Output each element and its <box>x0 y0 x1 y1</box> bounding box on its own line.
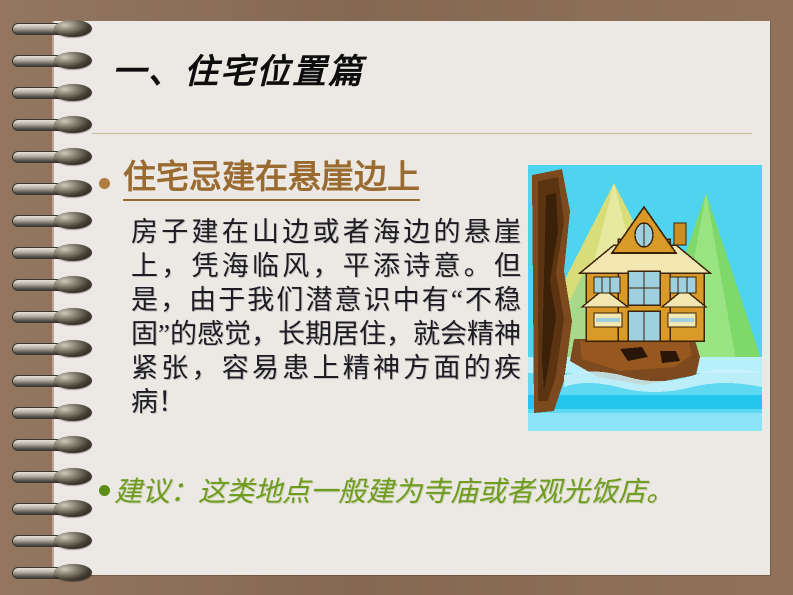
page-left-edge <box>52 21 54 575</box>
slide-canvas: 一、住宅位置篇 住宅忌建在悬崖边上 房子建在山边或者海边的悬崖上，凭海临风，平添… <box>0 0 793 595</box>
title-divider <box>92 133 752 134</box>
bullet-suggestion <box>99 485 110 496</box>
suggestion-text: 建议：这类地点一般建为寺庙或者观光饭店。 <box>114 470 674 510</box>
house-on-cliff-clipart <box>524 161 766 435</box>
bullet-heading <box>99 178 110 189</box>
page-title: 一、住宅位置篇 <box>112 44 364 93</box>
body-paragraph: 房子建在山边或者海边的悬崖上，凭海临风，平添诗意。但是，由于我们潜意识中有“不稳… <box>131 215 521 419</box>
section-heading: 住宅忌建在悬崖边上 <box>123 160 420 201</box>
